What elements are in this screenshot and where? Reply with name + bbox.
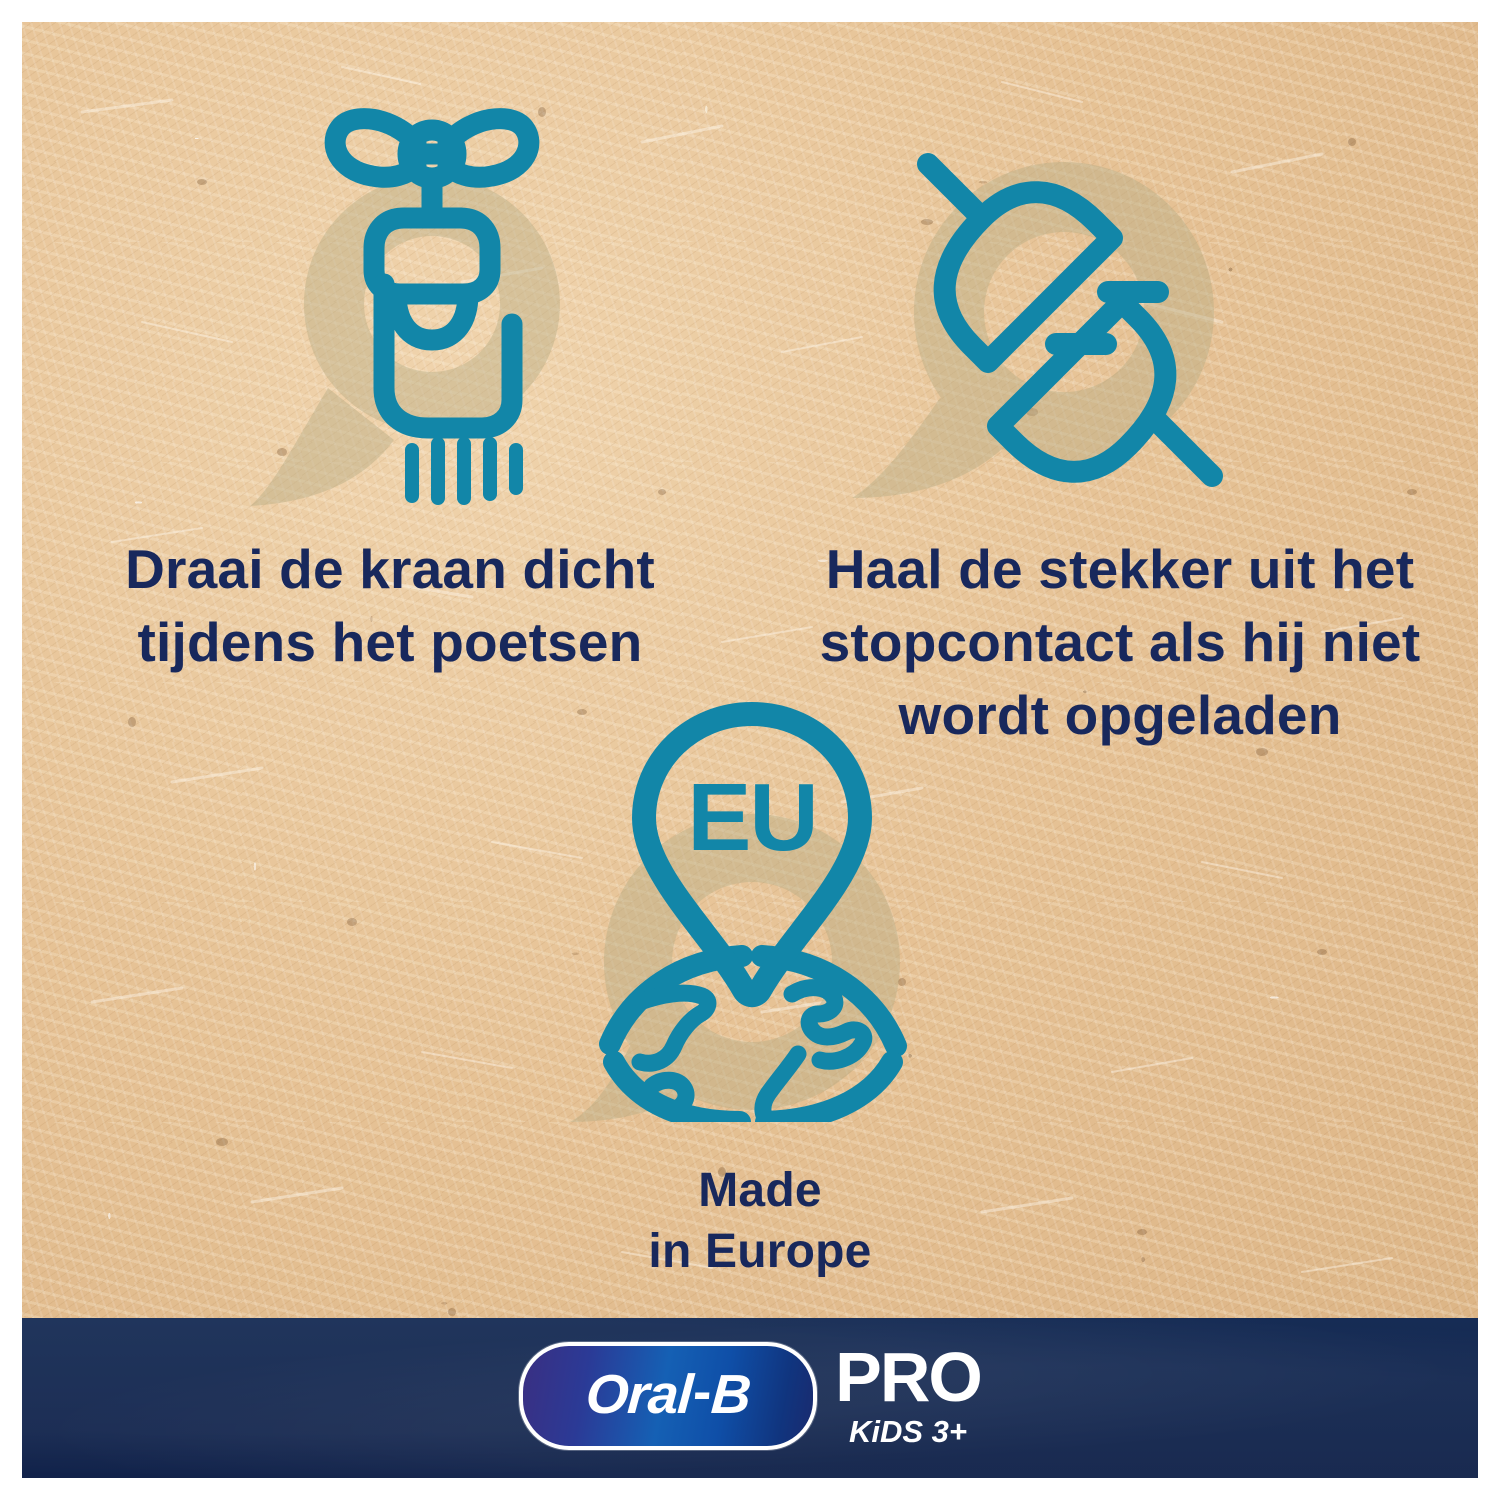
caption-plug: Haal de stekker uit het stopcontact als … bbox=[760, 533, 1480, 752]
caption-made-in-europe: Made in Europe bbox=[540, 1160, 980, 1283]
pro-kids-lockup: PRO KiDS 3+ bbox=[835, 1345, 981, 1446]
faucet-eco-icon bbox=[232, 88, 632, 508]
pro-wordmark: PRO bbox=[835, 1345, 981, 1409]
faucet-eco-icon-svg bbox=[232, 88, 632, 508]
unplug-eco-icon-svg bbox=[842, 132, 1262, 512]
oral-b-wordmark: Oral-B bbox=[584, 1367, 752, 1422]
poster-canvas: EU Draai de kraan dicht tijdens het poet… bbox=[0, 0, 1500, 1500]
oral-b-logo-pill: Oral-B bbox=[519, 1342, 817, 1450]
water-stream-lines bbox=[412, 444, 516, 498]
eu-globe-pin-eco-icon: EU bbox=[562, 702, 942, 1122]
eu-pin-label: EU bbox=[687, 764, 816, 871]
kids-age-label: KiDS 3+ bbox=[849, 1416, 967, 1447]
brand-footer-band: Oral-B PRO KiDS 3+ bbox=[22, 1318, 1478, 1478]
oral-b-word-oral: Oral bbox=[584, 1363, 694, 1425]
eu-globe-pin-eco-icon-svg: EU bbox=[562, 702, 942, 1122]
oral-b-pro-logo: Oral-B PRO KiDS 3+ bbox=[519, 1342, 981, 1450]
caption-water: Draai de kraan dicht tijdens het poetsen bbox=[40, 533, 740, 679]
oral-b-word-b: B bbox=[709, 1363, 752, 1425]
unplug-eco-icon bbox=[842, 132, 1262, 512]
